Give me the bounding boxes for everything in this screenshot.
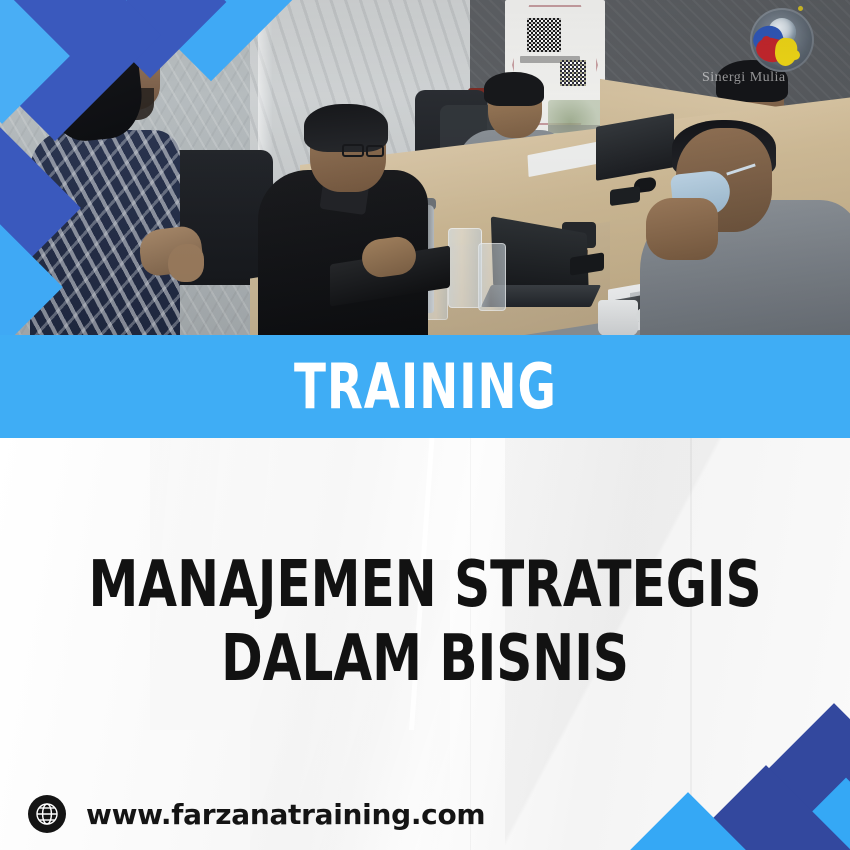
company-logo-watermark: Sinergi Mulia [750, 8, 824, 82]
logo-dot-yellow [790, 50, 800, 60]
eyeglasses-icon [366, 145, 384, 157]
eyeglasses-icon [342, 144, 364, 157]
globe-icon [28, 795, 66, 833]
footer-website[interactable]: www.farzanatraining.com [28, 795, 485, 833]
website-url[interactable]: www.farzanatraining.com [86, 798, 485, 831]
headline-line-2: DALAM BISNIS [55, 622, 795, 696]
qr-code-icon [560, 60, 586, 86]
participant-hair [484, 72, 544, 106]
training-banner: TRAINING [0, 335, 850, 438]
logo-sparkle [798, 6, 803, 11]
water-pitcher [478, 243, 506, 311]
qr-code-icon [527, 18, 561, 52]
water-pitcher [448, 228, 482, 308]
logo-dot-red [762, 36, 771, 45]
participant-hands [646, 198, 718, 260]
headline-line-1: MANAJEMEN STRATEGIS [55, 548, 795, 622]
training-poster: Sinergi Mulia TRAINING MANAJEMEN STRATEG… [0, 0, 850, 850]
poster-headline: MANAJEMEN STRATEGIS DALAM BISNIS [0, 548, 850, 696]
coffee-mug [598, 300, 638, 336]
banner-title: TRAINING [294, 356, 557, 418]
presenter-hand [168, 244, 204, 282]
company-logo-text: Sinergi Mulia [702, 70, 842, 86]
